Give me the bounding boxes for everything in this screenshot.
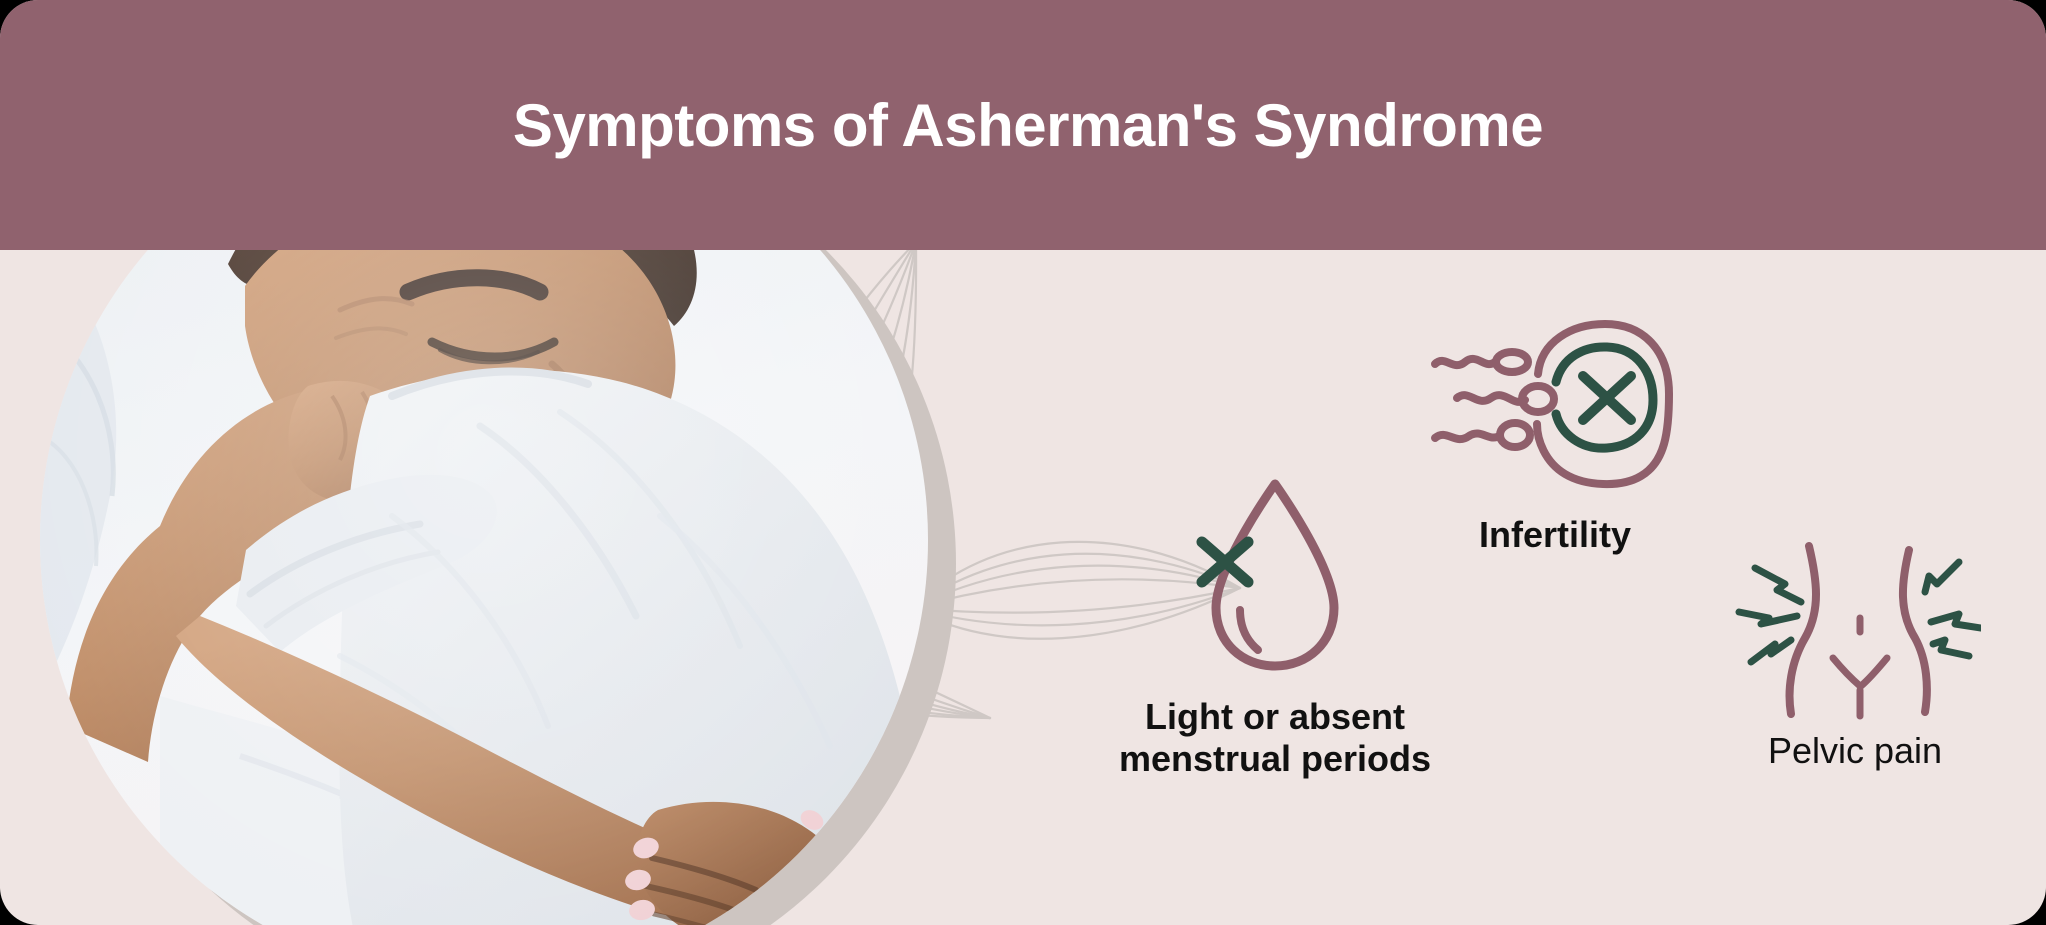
sperm-egg-crossed-icon [1425, 320, 1685, 502]
symptom-menstrual-label: Light or absent menstrual periods [1075, 696, 1475, 781]
symptom-pelvic: Pelvic pain [1700, 540, 2010, 772]
page-title: Symptoms of Asherman's Syndrome [0, 0, 2046, 250]
blood-droplet-crossed-icon [1180, 470, 1370, 680]
infographic-card: Symptoms of Asherman's Syndrome Light or… [0, 0, 2046, 925]
symptom-infertility-label: Infertility [1405, 514, 1705, 556]
pelvis-pain-icon [1729, 540, 1981, 720]
header-band: Symptoms of Asherman's Syndrome [0, 0, 2046, 250]
symptom-infertility: Infertility [1405, 320, 1705, 556]
symptom-pelvic-label: Pelvic pain [1700, 730, 2010, 772]
